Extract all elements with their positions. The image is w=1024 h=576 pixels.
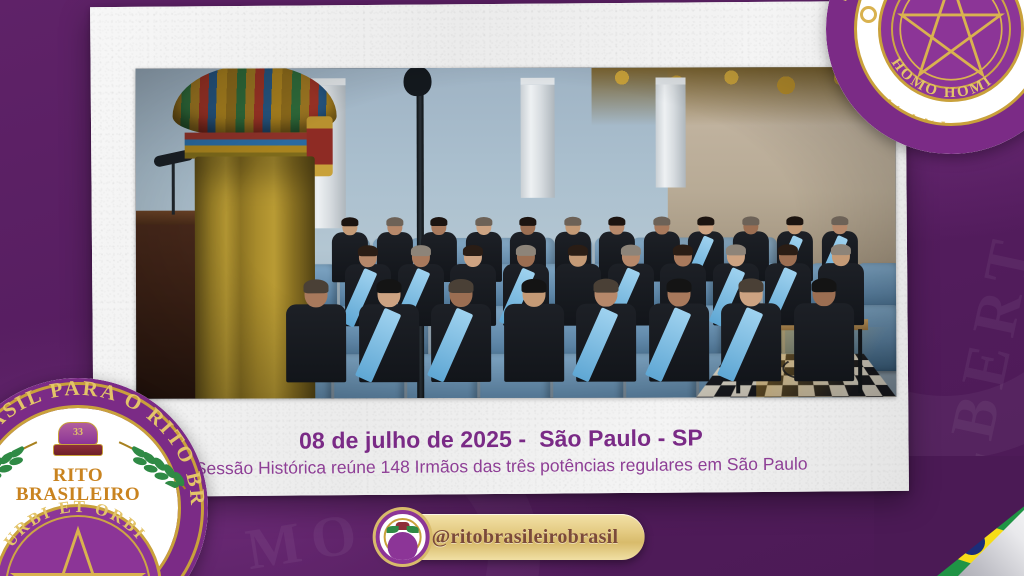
column-band xyxy=(185,132,325,158)
crown-band xyxy=(53,444,103,456)
caption-title: 08 de julho de 2025 - São Paulo - SP xyxy=(299,424,703,454)
social-handle-text: @ritobrasileirobrasil xyxy=(432,526,619,549)
crescent-moon-icon xyxy=(860,6,877,23)
podium-mic-stand xyxy=(172,161,175,215)
attendee xyxy=(793,279,853,384)
caption-band: 08 de julho de 2025 - São Paulo - SP Ses… xyxy=(93,403,909,497)
attendee xyxy=(721,279,781,384)
pentagram-star-icon xyxy=(897,0,1005,83)
attendee xyxy=(286,280,346,385)
attendee xyxy=(648,279,708,384)
photo-frame: 08 de julho de 2025 - São Paulo - SP Ses… xyxy=(90,1,909,497)
attendee xyxy=(503,280,563,385)
greek-column-3 xyxy=(656,77,686,187)
seal-bl-name: RITO BRASILEIRO xyxy=(0,466,208,504)
event-photograph xyxy=(136,67,897,399)
greek-column-2 xyxy=(521,78,555,198)
standing-mic-head xyxy=(403,67,431,96)
crown-icon: 33 xyxy=(53,422,103,456)
table-leg-right xyxy=(858,329,862,393)
caption-subtitle: Sessão Histórica reúne 148 Irmãos das tr… xyxy=(195,453,808,479)
badge-seal-icon xyxy=(376,510,430,564)
attendee xyxy=(576,280,636,385)
attendee xyxy=(431,280,491,385)
attendee xyxy=(358,280,418,385)
seal-bl-name-line2: BRASILEIRO xyxy=(0,485,208,504)
crown-degree-number: 33 xyxy=(53,427,103,438)
seal-bl-name-line1: RITO xyxy=(53,465,103,486)
social-handle-badge[interactable]: @ritobrasileirobrasil xyxy=(380,514,645,560)
seal-bl-core xyxy=(0,504,162,576)
seal-bl-pentagram-icon xyxy=(0,507,159,576)
